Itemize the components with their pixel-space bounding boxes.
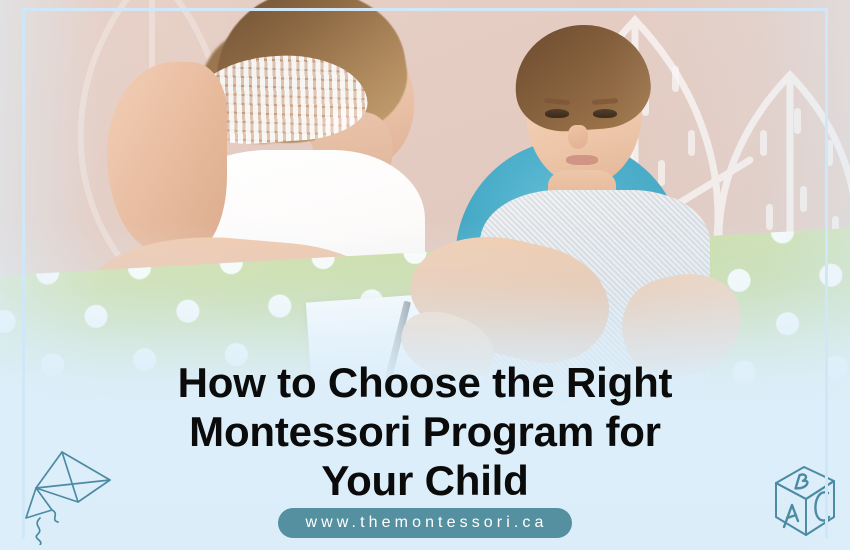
title-line-1: How to Choose the Right bbox=[70, 358, 780, 407]
website-url-container: www.themontessori.ca bbox=[0, 508, 850, 538]
website-url-badge[interactable]: www.themontessori.ca bbox=[278, 508, 571, 538]
montessori-blog-banner: How to Choose the Right Montessori Progr… bbox=[0, 0, 850, 550]
page-title: How to Choose the Right Montessori Progr… bbox=[0, 358, 850, 505]
title-line-2: Montessori Program for bbox=[70, 407, 780, 456]
title-line-3: Your Child bbox=[70, 456, 780, 505]
